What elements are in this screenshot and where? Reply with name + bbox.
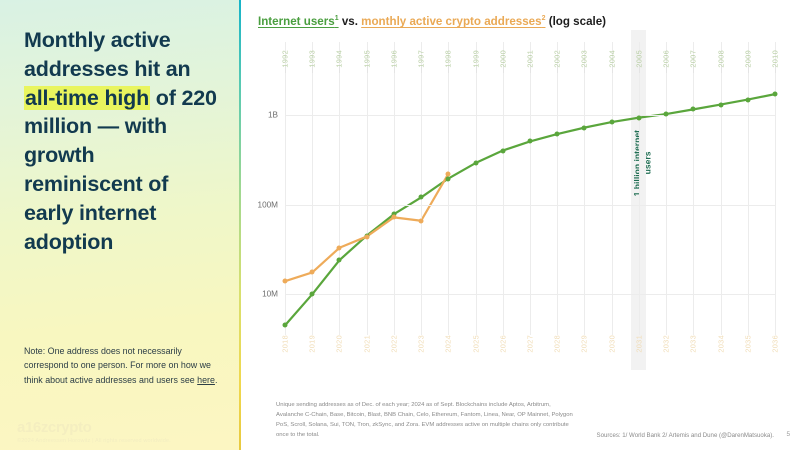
x-axis-label-bottom: 2034 — [716, 335, 725, 353]
data-point[interactable] — [446, 171, 451, 176]
one-billion-internet-users-annotation: 1 billion internet users — [632, 130, 653, 196]
vertical-gridline — [394, 42, 395, 332]
vertical-gridline — [367, 42, 368, 332]
vertical-gridline — [557, 42, 558, 332]
x-axis-label-bottom: 2036 — [771, 335, 780, 353]
x-axis-label-bottom: 2029 — [580, 335, 589, 353]
x-axis-label-bottom: 2026 — [498, 335, 507, 353]
data-point[interactable] — [419, 218, 424, 223]
y-axis-label: 1B — [268, 110, 278, 119]
vertical-gridline — [530, 42, 531, 332]
y-axis-label: 10M — [262, 290, 278, 299]
x-axis-label-bottom: 2025 — [471, 335, 480, 353]
vertical-gridline — [693, 42, 694, 332]
data-point[interactable] — [337, 245, 342, 250]
vertical-gridline — [476, 42, 477, 332]
vertical-gridline — [503, 42, 504, 332]
x-axis-label-top: 2005 — [634, 50, 643, 68]
plot-area: 1 billion internet users 199220181993201… — [285, 72, 775, 330]
left-panel: Monthly active addresses hit an all-time… — [0, 0, 241, 450]
data-point[interactable] — [582, 125, 587, 130]
data-point[interactable] — [609, 120, 614, 125]
x-axis-label-top: 2009 — [743, 50, 752, 68]
x-axis-label-bottom: 2033 — [689, 335, 698, 353]
brand-block: a16zcrypto ©2024 Andreessen Horowitz | A… — [17, 420, 232, 444]
data-point[interactable] — [773, 92, 778, 97]
page-title: Monthly active addresses hit an all-time… — [24, 26, 217, 256]
data-point[interactable] — [446, 176, 451, 181]
data-point[interactable] — [691, 107, 696, 112]
headline-part-1: all-time high — [24, 86, 150, 110]
x-axis-label-bottom: 2032 — [662, 335, 671, 353]
x-axis-label-top: 1995 — [362, 50, 371, 68]
x-axis-label-bottom: 2024 — [444, 335, 453, 353]
vertical-gridline — [666, 42, 667, 332]
vertical-gridline — [285, 42, 286, 332]
x-axis-label-top: 2007 — [689, 50, 698, 68]
data-point[interactable] — [310, 292, 315, 297]
x-axis-label-bottom: 2020 — [335, 335, 344, 353]
horizontal-gridline — [285, 115, 775, 116]
x-axis-label-bottom: 2021 — [362, 335, 371, 353]
x-axis-label-top: 1997 — [417, 50, 426, 68]
x-axis-label-bottom: 2022 — [389, 335, 398, 353]
sources-text: Sources: 1/ World Bank 2/ Artemis and Du… — [579, 432, 774, 439]
vertical-gridline — [612, 42, 613, 332]
x-axis-label-top: 2004 — [607, 50, 616, 68]
legend-crypto-addresses[interactable]: monthly active crypto addresses2 — [361, 15, 545, 28]
x-axis-label-top: 2010 — [771, 50, 780, 68]
legend-crypto-addresses-label: monthly active crypto addresses — [361, 15, 541, 28]
vertical-gridline — [748, 42, 749, 332]
note-text: Note: One address does not necessarily c… — [24, 344, 220, 387]
data-point[interactable] — [391, 215, 396, 220]
x-axis-label-bottom: 2023 — [417, 335, 426, 353]
vertical-gridline — [584, 42, 585, 332]
data-point[interactable] — [337, 258, 342, 263]
a16zcrypto-logo: a16zcrypto — [17, 420, 232, 435]
x-axis-label-bottom: 2028 — [553, 335, 562, 353]
data-point[interactable] — [364, 234, 369, 239]
x-axis-label-top: 1994 — [335, 50, 344, 68]
data-point[interactable] — [473, 161, 478, 166]
data-point[interactable] — [745, 97, 750, 102]
note-period: . — [215, 375, 217, 385]
data-point[interactable] — [310, 270, 315, 275]
vertical-gridline — [775, 42, 776, 332]
x-axis-label-top: 2000 — [498, 50, 507, 68]
legend-internet-users-label: Internet users — [258, 15, 335, 28]
vertical-gridline — [448, 42, 449, 332]
x-axis-label-top: 1993 — [308, 50, 317, 68]
data-point[interactable] — [500, 148, 505, 153]
data-point[interactable] — [419, 195, 424, 200]
x-axis-label-top: 2006 — [662, 50, 671, 68]
page-number: 5 — [786, 431, 790, 438]
data-point[interactable] — [718, 102, 723, 107]
data-point[interactable] — [636, 115, 641, 120]
vertical-gridline — [339, 42, 340, 332]
headline-part-2: of 220 million — with growth reminiscent… — [24, 86, 217, 254]
x-axis-label-top: 2002 — [553, 50, 562, 68]
headline-part-0: Monthly active addresses hit an — [24, 28, 190, 81]
x-axis-label-bottom: 2035 — [743, 335, 752, 353]
chart-footnote: Unique sending addresses as of Dec. of e… — [276, 400, 576, 441]
x-axis-label-bottom: 2031 — [634, 335, 643, 353]
x-axis-label-top: 2001 — [526, 50, 535, 68]
data-point[interactable] — [555, 132, 560, 137]
note-body: Note: One address does not necessarily c… — [24, 346, 211, 385]
x-axis-label-top: 1992 — [281, 50, 290, 68]
x-axis-label-top: 1998 — [444, 50, 453, 68]
y-axis-label: 100M — [258, 200, 278, 209]
horizontal-gridline — [285, 205, 775, 206]
data-point[interactable] — [528, 139, 533, 144]
note-here-link[interactable]: here — [197, 375, 215, 385]
x-axis-label-top: 2003 — [580, 50, 589, 68]
chart-title-scale-note: (log scale) — [545, 15, 606, 28]
chart-panel: Internet users1 vs. monthly active crypt… — [241, 0, 800, 450]
copyright-text: ©2024 Andreessen Horowitz | All rights r… — [17, 438, 232, 444]
chart-title-conjunction: vs. — [339, 15, 362, 28]
legend-internet-users[interactable]: Internet users1 — [258, 15, 339, 28]
x-axis-label-bottom: 2018 — [281, 335, 290, 353]
data-point[interactable] — [664, 112, 669, 117]
x-axis-label-bottom: 2019 — [308, 335, 317, 353]
horizontal-gridline — [285, 294, 775, 295]
x-axis-label-top: 1996 — [389, 50, 398, 68]
vertical-gridline — [312, 42, 313, 332]
vertical-gridline — [421, 42, 422, 332]
vertical-gridline — [721, 42, 722, 332]
x-axis-label-bottom: 2030 — [607, 335, 616, 353]
data-point[interactable] — [283, 279, 288, 284]
chart-title: Internet users1 vs. monthly active crypt… — [258, 15, 606, 28]
x-axis-label-top: 1999 — [471, 50, 480, 68]
x-axis-label-bottom: 2027 — [526, 335, 535, 353]
data-point[interactable] — [283, 323, 288, 328]
vertical-gridline — [639, 42, 640, 332]
x-axis-label-top: 2008 — [716, 50, 725, 68]
